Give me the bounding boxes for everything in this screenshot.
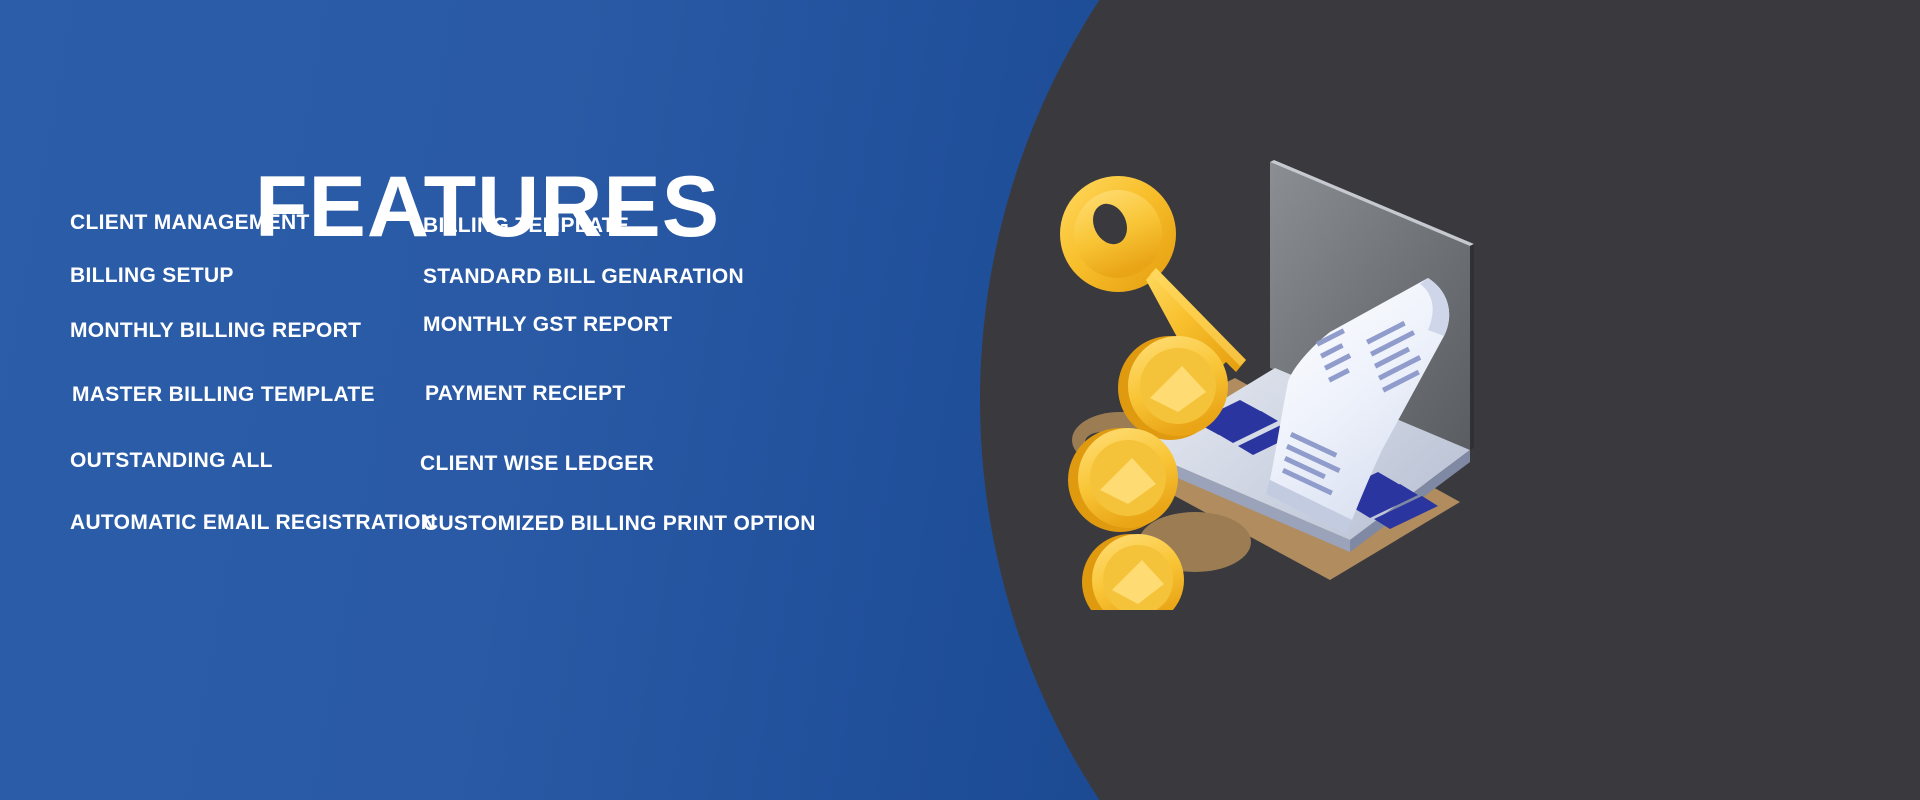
- feature-billing-setup: BILLING SETUP: [70, 265, 234, 286]
- dark-panel-right-fill: [1700, 0, 1920, 800]
- feature-monthly-billing-report: MONTHLY BILLING REPORT: [70, 320, 361, 341]
- feature-master-billing-template: MASTER BILLING TEMPLATE: [72, 384, 375, 405]
- feature-client-wise-ledger: CLIENT WISE LEDGER: [420, 453, 654, 474]
- feature-standard-bill-genaration: STANDARD BILL GENARATION: [423, 266, 744, 287]
- feature-outstanding-all: OUTSTANDING ALL: [70, 450, 273, 471]
- feature-customized-billing-print-option: CUSTOMIZED BILLING PRINT OPTION: [423, 513, 816, 534]
- feature-monthly-gst-report: MONTHLY GST REPORT: [423, 314, 672, 335]
- features-banner: FEATURES CLIENT MANAGEMENT BILLING SETUP…: [0, 0, 1920, 800]
- gold-coin-middle: [1068, 428, 1178, 532]
- feature-billing-template: BILLING TEMPLATE: [423, 215, 629, 236]
- feature-list: CLIENT MANAGEMENT BILLING SETUP MONTHLY …: [0, 0, 1000, 800]
- billing-illustration: [1030, 150, 1550, 610]
- feature-client-management: CLIENT MANAGEMENT: [70, 212, 310, 233]
- feature-automatic-email-registration: AUTOMATIC EMAIL REGISTRATION: [70, 512, 436, 533]
- feature-payment-reciept: PAYMENT RECIEPT: [425, 383, 626, 404]
